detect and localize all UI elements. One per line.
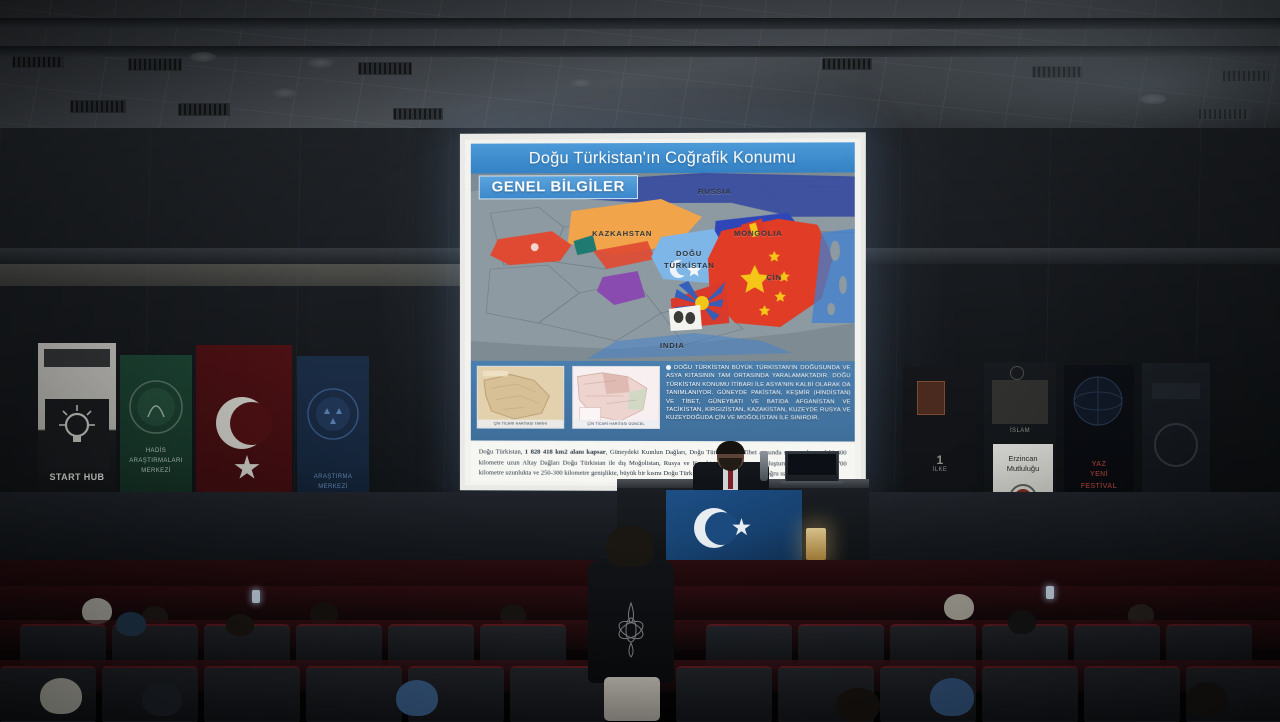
audience-phone-screen — [1046, 586, 1054, 599]
seat[interactable] — [1084, 666, 1180, 722]
star-icon — [234, 455, 260, 481]
map-label-turkistan: TÜRKİSTAN — [664, 261, 715, 270]
banner-start-hub-label: START HUB — [38, 472, 116, 483]
map-label-cin: ÇİN — [766, 273, 782, 282]
festival-line3: FESTİVAL — [1064, 483, 1134, 492]
book-cover-icon — [917, 381, 945, 415]
banner-photo — [992, 380, 1048, 424]
map-label-dogu: DOĞU — [676, 249, 702, 258]
audience-head — [930, 678, 974, 716]
audience-head — [1186, 682, 1228, 718]
laptop — [785, 451, 839, 482]
ceiling-light — [568, 78, 594, 88]
banner-circle-icon — [1154, 423, 1198, 467]
banner-ilke-number: 1 — [903, 453, 977, 468]
wall-header-board — [0, 264, 470, 286]
map-graphic: RUSSIA KAZKAHSTAN MONGOLIA DOĞU TÜRKİSTA… — [471, 172, 855, 361]
ceiling-light-wash — [860, 0, 1280, 140]
audience-head — [1008, 610, 1036, 634]
map-label-kazakhstan: KAZKAHSTAN — [592, 229, 652, 238]
seat[interactable] — [306, 666, 402, 722]
foreground-standing-person — [588, 525, 674, 721]
banner-top-bar — [44, 349, 110, 367]
audience-head — [116, 612, 146, 636]
audience-head — [142, 682, 182, 716]
auditorium-scene: Doğu Türkistan'ın Coğrafik Konumu GENEL … — [0, 0, 1280, 721]
audience-phone-screen — [252, 590, 260, 603]
ceiling-light — [308, 58, 334, 68]
audience-head — [836, 688, 880, 722]
crescent-icon — [216, 397, 268, 449]
presentation-slide: Doğu Türkistan'ın Coğrafik Konumu GENEL … — [465, 138, 861, 486]
banner-blue-line2: MERKEZİ — [297, 484, 369, 492]
banner-hadis-line2: ARAŞTIRMALARI — [120, 458, 192, 466]
seat[interactable] — [204, 666, 300, 722]
crescent-icon — [694, 508, 734, 548]
banner-blue-line1: ARAŞTIRMA — [297, 474, 369, 482]
banner-ilke-label: İLKE — [903, 467, 977, 475]
inset-map-modern: ÇİN TİCARİ HARİTASI GÜNCEL — [572, 366, 660, 429]
projection-screen: Doğu Türkistan'ın Coğrafik Konumu GENEL … — [460, 132, 866, 492]
desk-lamp — [806, 528, 826, 560]
mutluluk-line1: Erzincan — [993, 454, 1053, 463]
festival-line1: YAZ — [1064, 461, 1134, 470]
hvac-vent — [128, 58, 182, 71]
speaker-tie — [728, 470, 733, 489]
hvac-vent — [70, 100, 126, 113]
banner-title-block — [1152, 383, 1200, 399]
hoodie-rocket-graphic-icon — [616, 599, 646, 661]
ceiling-light — [190, 52, 216, 62]
person-trousers — [604, 677, 660, 721]
banner-hadis-line1: HADİS — [120, 448, 192, 456]
water-bottle — [760, 451, 768, 481]
audience-head — [40, 678, 82, 714]
ceiling — [0, 0, 1280, 140]
audience-head — [944, 594, 974, 620]
banner-islam-label: İSLAM — [984, 428, 1056, 436]
banner-logo-block — [45, 399, 109, 471]
hvac-vent — [393, 108, 443, 120]
slide-section-badge: GENEL BİLGİLER — [479, 175, 638, 199]
slide-bullet-block: DOĞU TÜRKİSTAN BÜYÜK TÜRKİSTAN'IN DOĞUSU… — [666, 364, 851, 440]
hvac-vent — [178, 103, 230, 116]
map-svg — [471, 172, 855, 361]
hvac-vent — [12, 56, 64, 68]
mutluluk-line2: Mutluluğu — [993, 464, 1053, 473]
seat[interactable] — [982, 666, 1078, 722]
map-label-mongolia: MONGOLIA — [734, 229, 782, 238]
east-turkestan-flag — [666, 490, 802, 568]
person-head — [606, 525, 654, 567]
lightbulb-icon — [45, 399, 109, 471]
slide-lower-band: ÇİN TİCARİ HARİTASI TARİHİ ÇİN TİCARİ HA… — [471, 361, 855, 442]
audience-head — [226, 614, 254, 636]
slide-title: Doğu Türkistan'ın Coğrafik Konumu — [471, 142, 855, 173]
inset-map-b-svg — [573, 367, 659, 428]
map-label-india: INDIA — [660, 341, 685, 350]
bullet-dot-icon — [666, 365, 671, 370]
hvac-vent — [358, 62, 412, 75]
footer-lead: Doğu Türkistan, — [479, 448, 523, 455]
banner-hadis-line3: MERKEZİ — [120, 468, 192, 476]
turkey-flag-mark — [531, 243, 539, 251]
laptop-screen — [788, 454, 836, 475]
map-label-russia: RUSSIA — [698, 187, 732, 196]
audience-head — [396, 680, 438, 716]
inset-caption-b: ÇİN TİCARİ HARİTASI GÜNCEL — [573, 420, 659, 428]
footer-bold-area: 1 828 418 km2 alanı kapsar — [525, 449, 606, 456]
ceiling-light — [272, 88, 298, 98]
festival-line2: YENİ — [1064, 471, 1134, 480]
banner-emblem-icon — [1010, 366, 1024, 380]
seat[interactable] — [676, 666, 772, 722]
inset-caption-a: ÇİN TİCARİ HARİTASI TARİHİ — [478, 420, 563, 428]
laptop-base — [781, 481, 843, 486]
slide-bullet-text: DOĞU TÜRKİSTAN BÜYÜK TÜRKİSTAN'IN DOĞUSU… — [666, 365, 851, 422]
inset-map-historic: ÇİN TİCARİ HARİTASI TARİHİ — [477, 366, 564, 429]
